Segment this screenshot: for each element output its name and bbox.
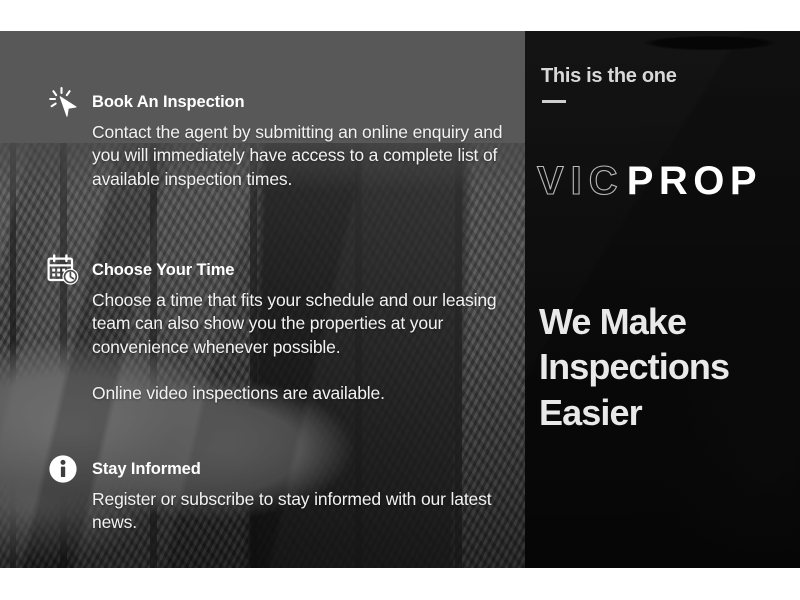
feature-header: Book An Inspection xyxy=(46,85,506,119)
feature-header: Stay Informed xyxy=(46,452,506,486)
feature-paragraph: Online video inspections are available. xyxy=(92,382,506,405)
feature-header: Choose Your Time xyxy=(46,253,506,287)
promo-banner: Book An Inspection Contact the agent by … xyxy=(0,31,800,568)
eyebrow-text: This is the one xyxy=(541,65,677,88)
feature-choose-your-time: Choose Your Time Choose a time that fits… xyxy=(46,253,506,405)
feature-body: Contact the agent by submitting an onlin… xyxy=(92,121,506,191)
feature-paragraph: Register or subscribe to stay informed w… xyxy=(92,488,506,535)
left-feature-list: Book An Inspection Contact the agent by … xyxy=(0,31,525,568)
calendar-clock-icon xyxy=(46,253,80,287)
feature-book-an-inspection: Book An Inspection Contact the agent by … xyxy=(46,85,506,191)
vicprop-logo: VIC PROP xyxy=(537,159,762,204)
right-panel-content: This is the one VIC PROP We Make Inspect… xyxy=(525,31,800,568)
feature-title: Stay Informed xyxy=(92,460,201,479)
logo-prop-solid: PROP xyxy=(627,159,762,204)
left-info-panel: Book An Inspection Contact the agent by … xyxy=(0,31,525,568)
click-cursor-icon xyxy=(46,85,80,119)
feature-title: Book An Inspection xyxy=(92,93,245,112)
feature-stay-informed: Stay Informed Register or subscribe to s… xyxy=(46,452,506,535)
feature-paragraph: Choose a time that fits your schedule an… xyxy=(92,289,506,359)
logo-vic-outline: VIC xyxy=(537,159,625,204)
headline-text: We Make Inspections Easier xyxy=(539,299,797,435)
eyebrow-divider xyxy=(542,100,566,103)
feature-body: Register or subscribe to stay informed w… xyxy=(92,488,506,535)
feature-body: Choose a time that fits your schedule an… xyxy=(92,289,506,405)
right-brand-panel: This is the one VIC PROP We Make Inspect… xyxy=(525,31,800,568)
feature-paragraph: Contact the agent by submitting an onlin… xyxy=(92,121,506,191)
info-circle-icon xyxy=(46,452,80,486)
feature-title: Choose Your Time xyxy=(92,261,234,280)
